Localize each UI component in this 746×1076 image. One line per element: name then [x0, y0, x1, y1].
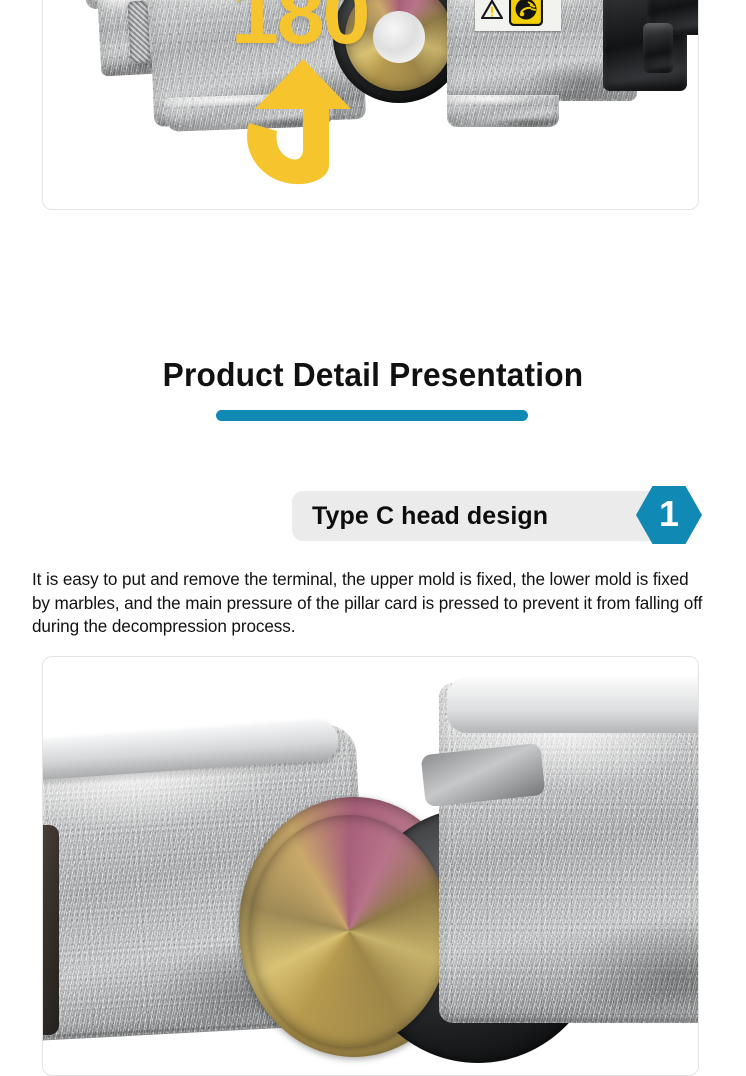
product-photo-top: 180 [42, 0, 699, 210]
feature-number-badge: 1 [636, 486, 702, 544]
warning-sticker [475, 0, 561, 31]
macro-die-front-ring [249, 815, 449, 1047]
title-underline-rule [216, 410, 528, 421]
metal-texture [439, 683, 699, 1023]
photo-top-stage: 180 [43, 0, 698, 209]
macro-barrel-body-right [439, 683, 699, 1023]
rotation-arrow-icon [229, 57, 375, 191]
metal-texture [447, 95, 559, 127]
feature-banner: Type C head design 1 [292, 491, 672, 541]
macro-shadow-gap-left [42, 825, 59, 1035]
die-bore-opening [373, 11, 425, 63]
macro-barrel-top-highlight [447, 677, 699, 733]
warning-triangle-icon [481, 0, 503, 19]
page-title: Product Detail Presentation [15, 356, 731, 394]
feature-title: Type C head design [312, 491, 548, 541]
feature-description: It is easy to put and remove the termina… [32, 568, 710, 639]
feature-number: 1 [636, 486, 702, 544]
tool-trigger-stub [643, 23, 673, 73]
product-photo-bottom [42, 656, 699, 1076]
rotation-callout-number: 180 [231, 0, 369, 57]
knurled-locking-pin [127, 1, 150, 64]
hand-crush-hazard-icon [509, 0, 543, 26]
photo-bottom-stage [43, 657, 698, 1075]
barrel-mounting-lug [447, 95, 559, 127]
